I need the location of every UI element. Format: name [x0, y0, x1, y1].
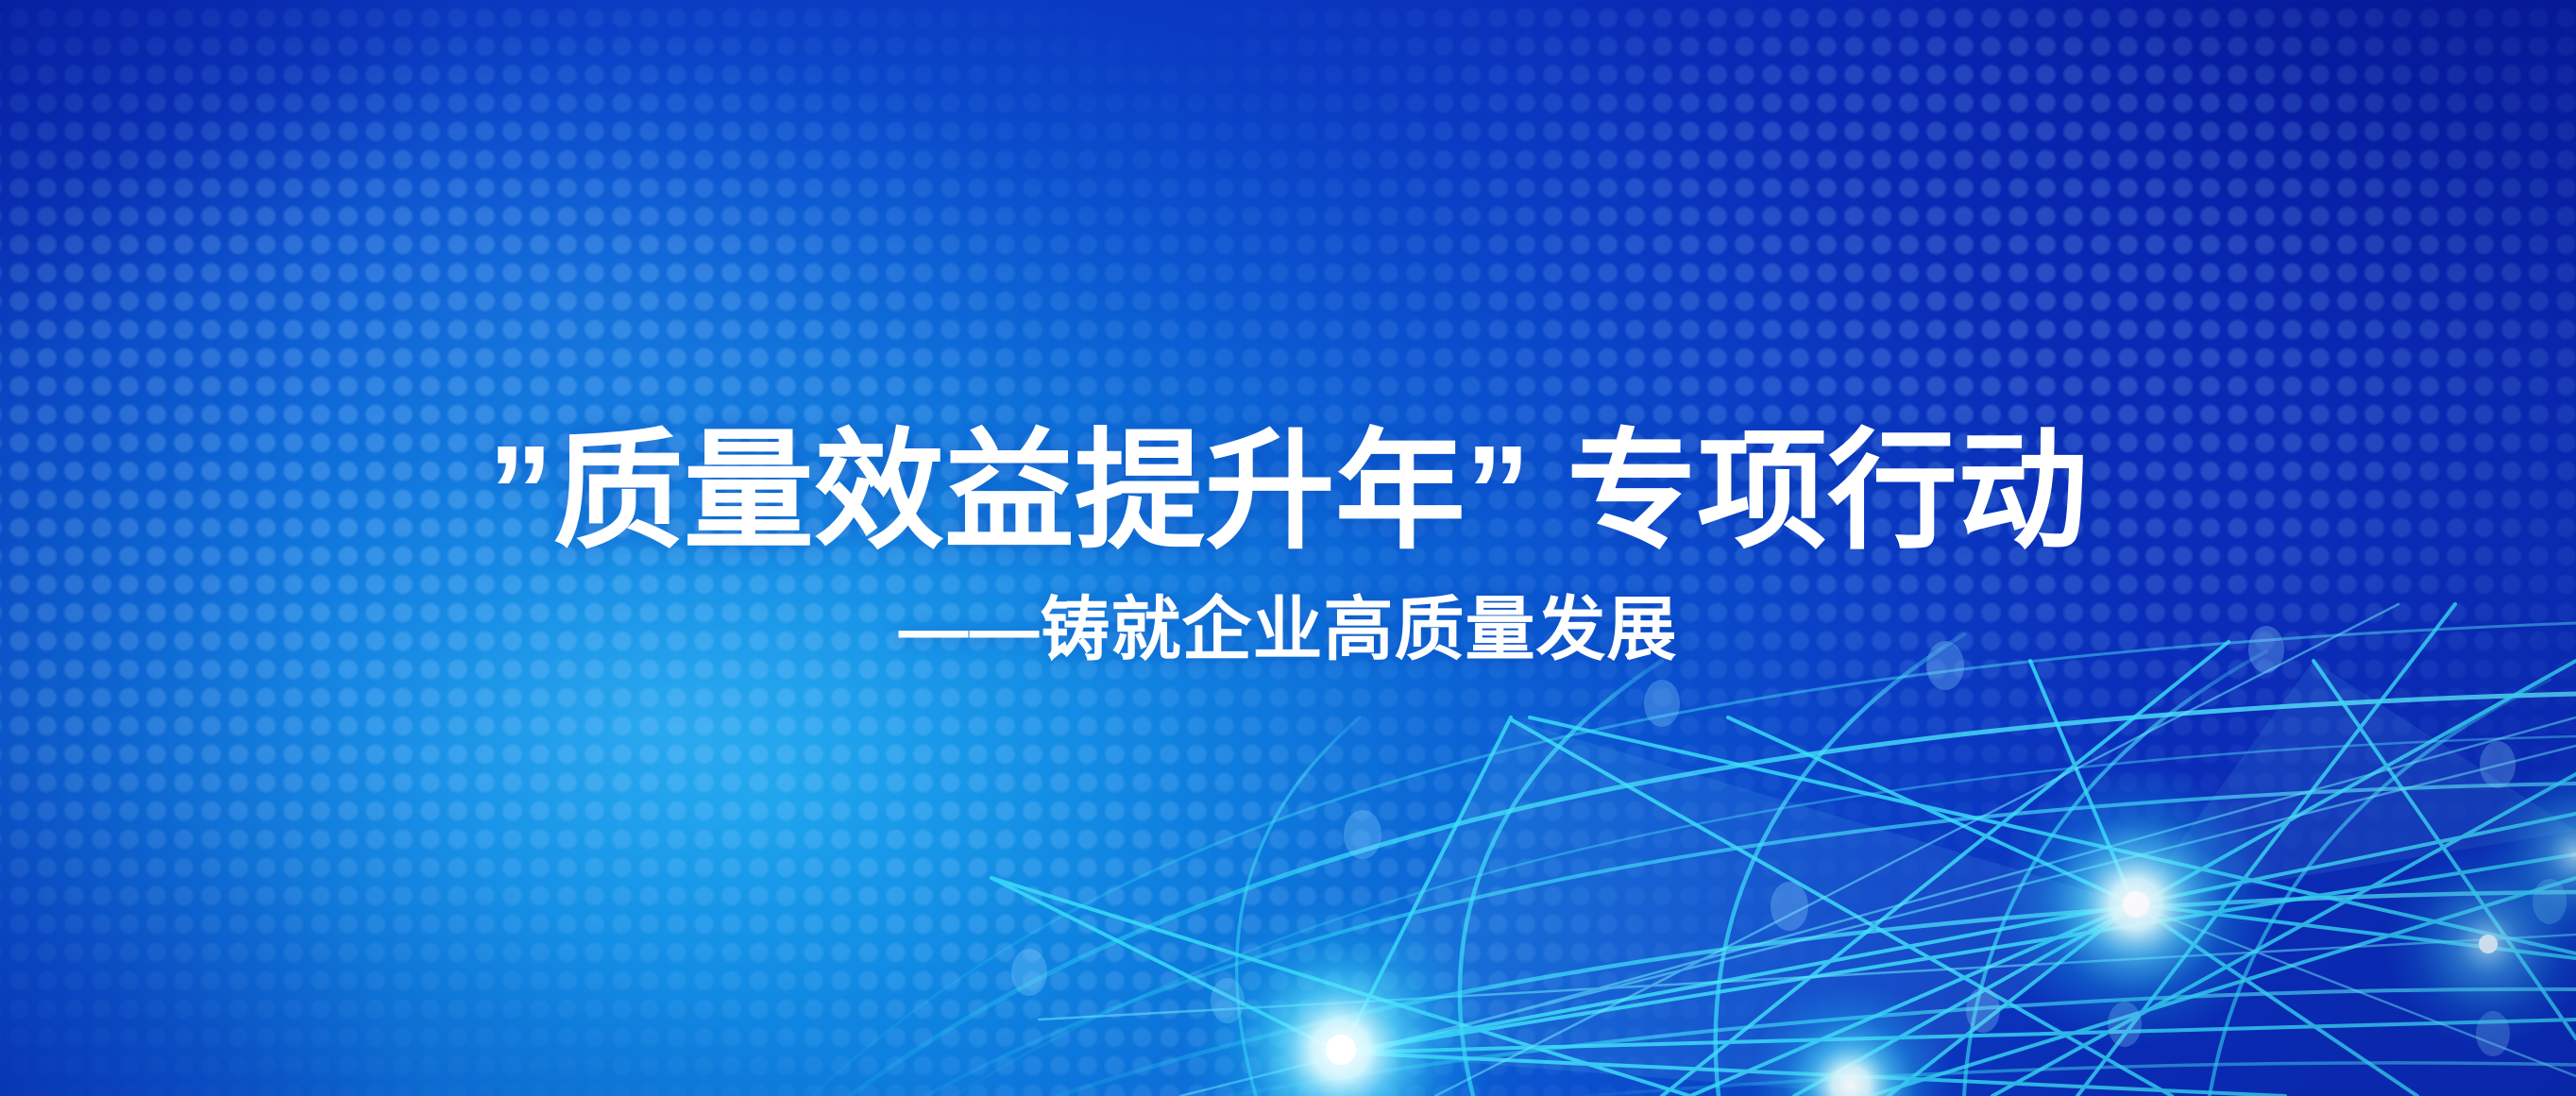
headline-block: ”质量效益提升年” 专项行动 ——铸就企业高质量发展: [0, 427, 2576, 665]
page-subtitle: ——铸就企业高质量发展: [0, 595, 2576, 665]
page-title-quoted: ”质量效益提升年” 专项行动: [488, 419, 2088, 565]
page-title: ”质量效益提升年” 专项行动: [0, 427, 2576, 557]
quality-efficiency-banner: ”质量效益提升年” 专项行动 ——铸就企业高质量发展: [0, 0, 2576, 1096]
glow-node: [1994, 763, 2278, 1046]
